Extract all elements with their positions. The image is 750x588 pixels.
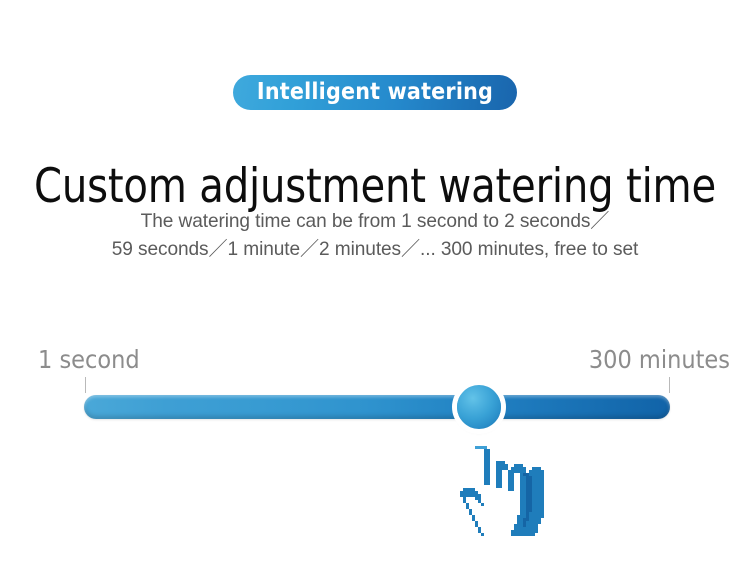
intelligent-watering-badge: Intelligent watering	[233, 75, 517, 110]
description-line-1: The watering time can be from 1 second t…	[8, 207, 743, 235]
page-root: Intelligent watering Custom adjustment w…	[0, 0, 750, 588]
slider-tick-max	[669, 377, 670, 393]
pointing-hand-cursor-icon	[448, 443, 544, 539]
description-line-2: 59 seconds／1 minute／2 minutes／... 300 mi…	[8, 235, 743, 263]
description-text: The watering time can be from 1 second t…	[8, 207, 743, 263]
slider-min-label: 1 second	[38, 345, 140, 375]
badge-row: Intelligent watering	[0, 75, 750, 110]
slider-track[interactable]	[84, 395, 670, 419]
slider-max-label: 300 minutes	[589, 345, 730, 375]
slider-tick-min	[85, 377, 86, 393]
slider-handle[interactable]	[457, 385, 501, 429]
watering-time-slider[interactable]: 1 second 300 minutes	[0, 345, 750, 445]
